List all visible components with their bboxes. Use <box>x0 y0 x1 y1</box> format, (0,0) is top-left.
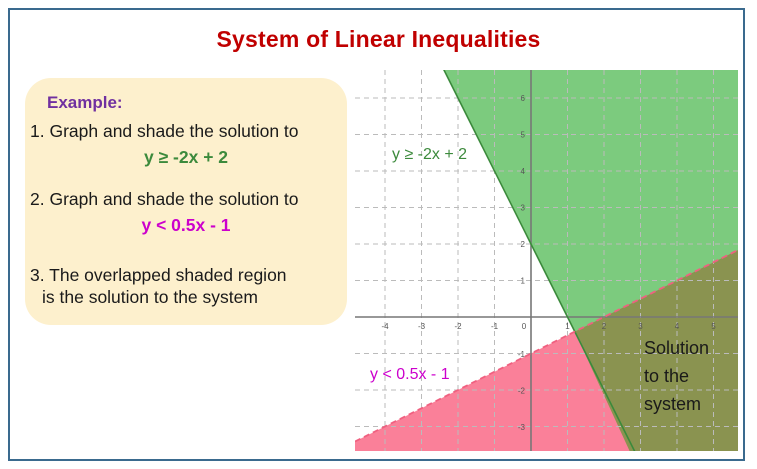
graph-label-green: y ≥ -2x + 2 <box>392 146 467 164</box>
example-heading: Example: <box>47 92 123 114</box>
y-tick-5: 5 <box>521 131 526 140</box>
y-tick-4: 4 <box>521 167 526 176</box>
x-tick--3: -3 <box>418 322 426 331</box>
step-3-text-line-1: 3. The overlapped shaded region <box>30 264 287 286</box>
x-tick--2: -2 <box>454 322 462 331</box>
x-tick-2: 2 <box>602 322 607 331</box>
equation-1-green: y ≥ -2x + 2 <box>25 146 347 168</box>
y-tick--1: -1 <box>518 350 526 359</box>
x-tick-0: 0 <box>522 322 527 331</box>
page-title: System of Linear Inequalities <box>0 26 757 53</box>
y-tick-3: 3 <box>521 204 526 213</box>
x-tick--4: -4 <box>381 322 389 331</box>
equation-2-pink: y < 0.5x - 1 <box>25 214 347 236</box>
slide-root: System of Linear Inequalities Example: 1… <box>0 0 757 469</box>
x-tick-3: 3 <box>638 322 643 331</box>
graph-label-pink: y < 0.5x - 1 <box>370 366 450 384</box>
y-tick--2: -2 <box>518 387 526 396</box>
y-tick-2: 2 <box>521 240 526 249</box>
step-1-text: 1. Graph and shade the solution to <box>30 120 299 142</box>
y-tick--3: -3 <box>518 423 526 432</box>
x-tick--1: -1 <box>491 322 499 331</box>
coordinate-graph: -4 -3 -2 -1 0 1 2 3 4 5 6 5 4 3 2 1 -1 -… <box>355 70 738 451</box>
y-tick-1: 1 <box>521 277 526 286</box>
y-tick-6: 6 <box>521 94 526 103</box>
graph-label-solution: Solution to the system <box>644 334 736 418</box>
x-tick-5: 5 <box>711 322 716 331</box>
step-3-text-line-2: is the solution to the system <box>42 286 258 308</box>
x-tick-1: 1 <box>565 322 570 331</box>
step-2-text: 2. Graph and shade the solution to <box>30 188 299 210</box>
x-tick-4: 4 <box>675 322 680 331</box>
example-card: Example: 1. Graph and shade the solution… <box>25 78 347 325</box>
